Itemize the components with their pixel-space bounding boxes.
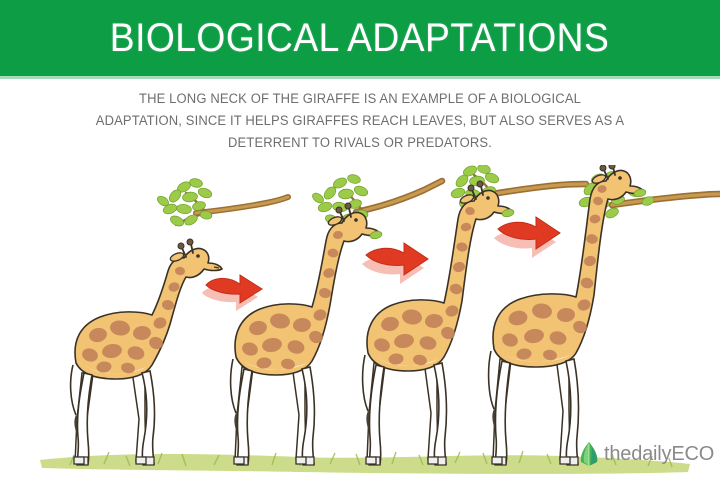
intro-line-2: ADAPTATION, SINCE IT HELPS GIRAFFES REAC… <box>69 110 651 132</box>
giraffe-evolution-illustration <box>0 165 720 480</box>
intro-paragraph: THE LONG NECK OF THE GIRAFFE IS AN EXAMP… <box>60 88 660 154</box>
header-banner: BIOLOGICAL ADAPTATIONS <box>0 0 720 76</box>
giraffe-2 <box>231 203 383 465</box>
infographic-page: BIOLOGICAL ADAPTATIONS THE LONG NECK OF … <box>0 0 720 480</box>
header-underline-divider <box>0 76 720 79</box>
logo-text: thedailyECO <box>604 443 714 466</box>
page-title: BIOLOGICAL ADAPTATIONS <box>110 16 609 61</box>
progress-arrow-1 <box>202 275 262 311</box>
thedailyeco-logo[interactable]: thedailyECO <box>578 441 714 467</box>
intro-line-3: DETERRENT TO RIVALS OR PREDATORS. <box>69 132 651 154</box>
giraffe-3 <box>363 181 515 465</box>
leaf-icon <box>578 441 600 467</box>
progress-arrow-3 <box>494 217 560 258</box>
intro-line-1: THE LONG NECK OF THE GIRAFFE IS AN EXAMP… <box>69 88 651 110</box>
tree-branch-1 <box>156 178 288 228</box>
giraffe-1-shortest-neck <box>71 239 222 465</box>
progress-arrow-2 <box>362 243 428 284</box>
